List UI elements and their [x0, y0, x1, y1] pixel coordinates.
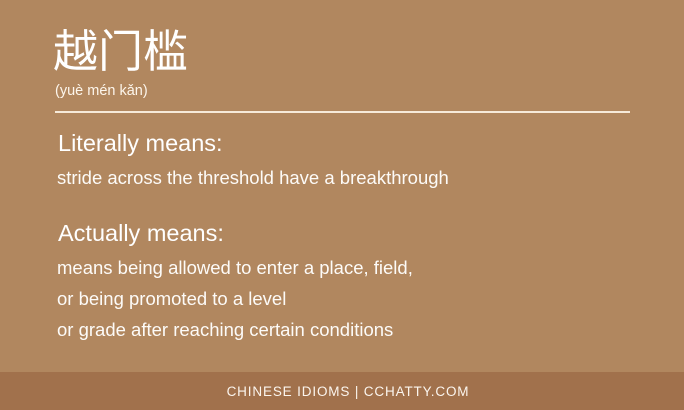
footer-branding-text: CHINESE IDIOMS | CCHATTY.COM: [227, 384, 470, 399]
section-line: or grade after reaching certain conditio…: [57, 314, 684, 345]
idiom-card: 越门槛 (yuè mén kǎn) Literally means: strid…: [0, 0, 684, 410]
section-body: means being allowed to enter a place, fi…: [0, 252, 684, 345]
footer-bar: CHINESE IDIOMS | CCHATTY.COM: [0, 372, 684, 410]
idiom-title: 越门槛: [53, 28, 188, 76]
section-heading: Literally means:: [58, 128, 684, 158]
card-content: 越门槛 (yuè mén kǎn) Literally means: strid…: [0, 0, 684, 372]
section-body: stride across the threshold have a break…: [0, 162, 684, 193]
section-heading: Actually means:: [58, 218, 684, 248]
section-actual-meaning: Actually means: means being allowed to e…: [0, 218, 684, 345]
idiom-pinyin: (yuè mén kǎn): [55, 83, 148, 99]
section-line: or being promoted to a level: [57, 283, 684, 314]
header-divider: [55, 111, 630, 113]
section-line: means being allowed to enter a place, fi…: [57, 252, 684, 283]
section-line: stride across the threshold have a break…: [57, 162, 684, 193]
section-literal-meaning: Literally means: stride across the thres…: [0, 128, 684, 193]
